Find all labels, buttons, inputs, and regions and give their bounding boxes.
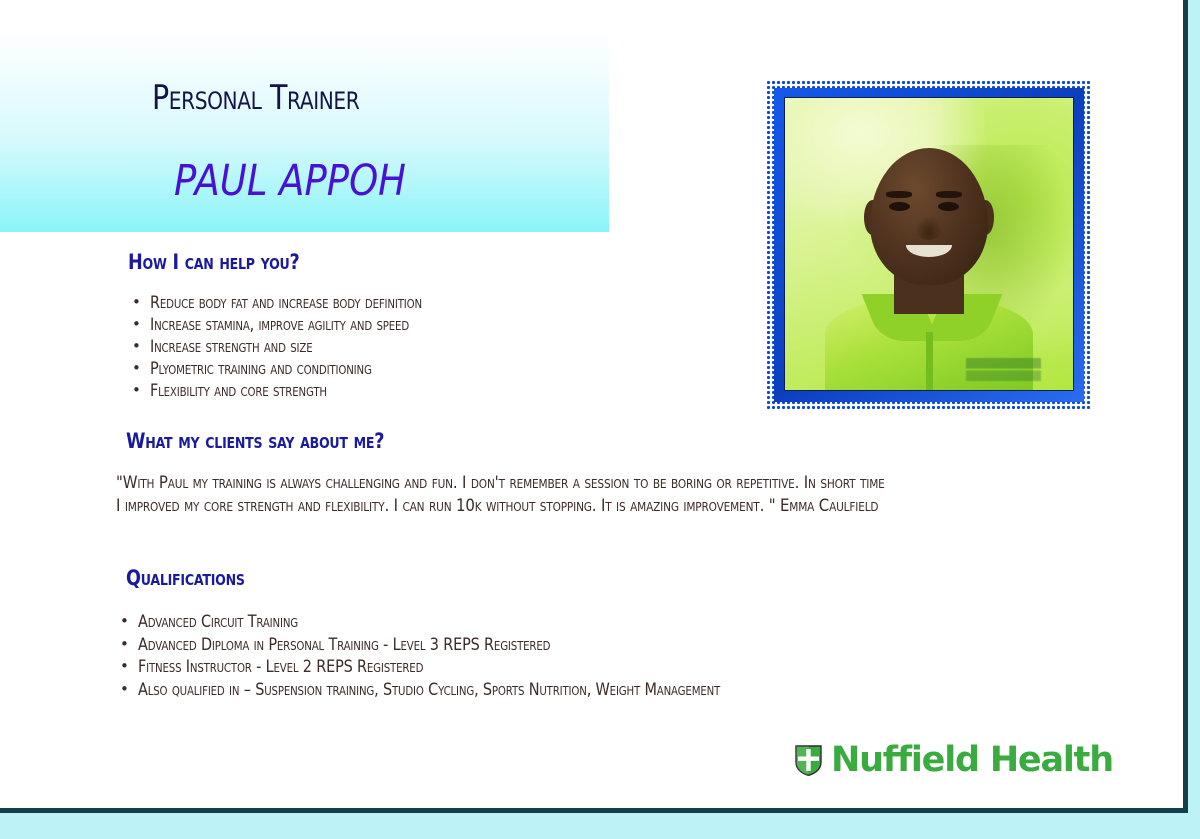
list-item: Plyometric training and conditioning xyxy=(130,358,470,380)
poster: Personal Trainer PAUL APPOH xyxy=(0,0,1200,839)
nuffield-health-wordmark: Nuffield Health xyxy=(831,740,1113,780)
list-item: Reduce body fat and increase body defini… xyxy=(130,292,470,314)
help-item-1: Increase stamina, improve agility and sp… xyxy=(150,314,409,336)
help-item-2: Increase strength and size xyxy=(150,336,312,358)
list-item: Advanced Circuit Training xyxy=(118,611,823,634)
portrait-brow-left xyxy=(886,191,912,197)
qualification-item-0: Advanced Circuit Training xyxy=(138,611,298,634)
help-item-3: Plyometric training and conditioning xyxy=(150,358,372,380)
section-heading-qualifications: Qualifications xyxy=(126,566,245,590)
list-item: Also qualified in – Suspension training,… xyxy=(118,679,823,702)
testimonial-quote: "With Paul my training is always challen… xyxy=(116,472,896,518)
qualifications-list: Advanced Circuit Training Advanced Diplo… xyxy=(118,611,823,701)
list-item: Fitness Instructor - Level 2 REPS Regist… xyxy=(118,656,823,679)
qualification-item-1: Advanced Diploma in Personal Training - … xyxy=(138,634,550,657)
help-item-0: Reduce body fat and increase body defini… xyxy=(150,292,422,314)
shirt-logo-icon xyxy=(966,358,1041,381)
qualification-item-2: Fitness Instructor - Level 2 REPS Regist… xyxy=(138,656,423,679)
list-item: Flexibility and core strength xyxy=(130,380,470,402)
trainer-photo xyxy=(766,80,1092,410)
nuffield-health-logo: Nuffield Health xyxy=(795,740,1113,780)
help-item-4: Flexibility and core strength xyxy=(150,380,327,402)
photo-image xyxy=(784,97,1074,391)
portrait-brow-right xyxy=(936,191,962,197)
portrait-nose xyxy=(915,216,944,239)
help-list: Reduce body fat and increase body defini… xyxy=(130,292,470,402)
list-item: Increase strength and size xyxy=(130,336,470,358)
shield-cross-icon xyxy=(795,745,822,776)
trainer-name: PAUL APPOH xyxy=(174,156,406,206)
section-heading-help: How I can help you? xyxy=(128,250,300,274)
portrait-eye-left xyxy=(889,202,911,211)
list-item: Increase stamina, improve agility and sp… xyxy=(130,314,470,336)
poster-page-body: Personal Trainer PAUL APPOH xyxy=(0,0,1188,813)
portrait-eye-right xyxy=(938,202,960,211)
header-banner: Personal Trainer PAUL APPOH xyxy=(0,30,609,232)
portrait-placket xyxy=(926,332,933,390)
page-title: Personal Trainer xyxy=(152,78,359,118)
list-item: Advanced Diploma in Personal Training - … xyxy=(118,634,823,657)
section-heading-testimonials: What my clients say about me? xyxy=(126,429,384,453)
testimonial-quote-text: "With Paul my training is always challen… xyxy=(116,472,892,518)
qualification-item-3: Also qualified in – Suspension training,… xyxy=(138,679,720,702)
